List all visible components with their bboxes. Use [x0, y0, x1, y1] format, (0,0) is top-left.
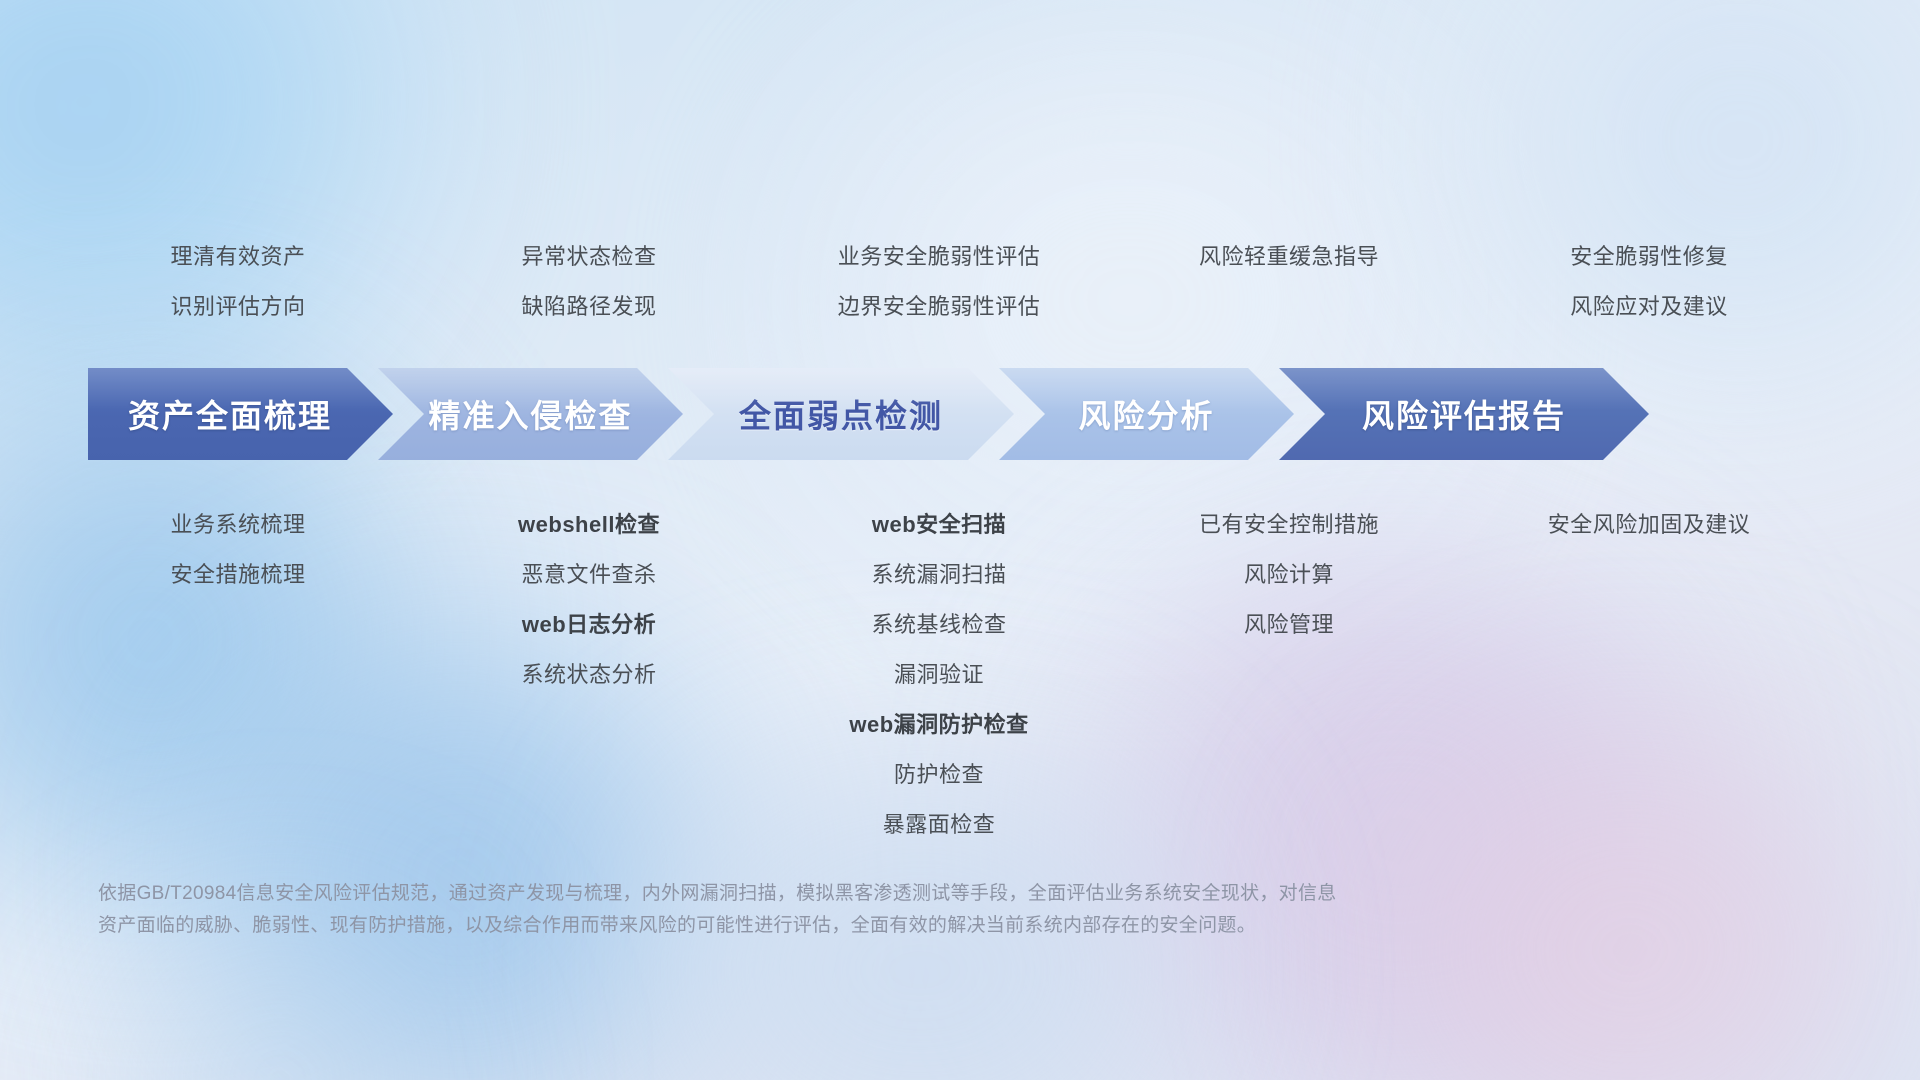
chevron-label: 风险评估报告 — [1279, 391, 1649, 437]
bottom-label: 业务系统梳理 — [170, 500, 305, 550]
bottom-label: 风险管理 — [1244, 600, 1334, 650]
stage-chevron-band: 资产全面梳理 精准入侵检查 全面弱点检测 风险分析 风险评估报告 — [0, 368, 1920, 460]
bottom-label: 安全风险加固及建议 — [1548, 500, 1751, 550]
chevron-stage-3[interactable]: 全面弱点检测 — [668, 368, 1014, 460]
chevron-stage-4[interactable]: 风险分析 — [999, 368, 1294, 460]
chevron-stage-1[interactable]: 资产全面梳理 — [88, 368, 393, 460]
bottom-labels-stage-4: 已有安全控制措施 风险计算 风险管理 — [1124, 500, 1454, 650]
top-labels-stage-5: 安全脆弱性修复 风险应对及建议 — [1454, 232, 1844, 332]
chevron-label: 资产全面梳理 — [88, 391, 393, 437]
footer-line-1: 依据GB/T20984信息安全风险评估规范，通过资产发现与梳理，内外网漏洞扫描，… — [98, 878, 1618, 910]
top-labels-row: 理清有效资产 识别评估方向 异常状态检查 缺陷路径发现 业务安全脆弱性评估 边界… — [0, 232, 1920, 332]
bottom-label: 安全措施梳理 — [170, 550, 305, 600]
top-labels-stage-1: 理清有效资产 识别评估方向 — [52, 232, 424, 332]
bottom-label: 风险计算 — [1244, 550, 1334, 600]
top-label: 识别评估方向 — [170, 282, 305, 332]
chevron-stage-2[interactable]: 精准入侵检查 — [378, 368, 683, 460]
bottom-label: web安全扫描 — [872, 500, 1006, 550]
top-label: 安全脆弱性修复 — [1570, 232, 1728, 282]
top-label: 异常状态检查 — [521, 232, 656, 282]
top-label: 业务安全脆弱性评估 — [838, 232, 1041, 282]
bottom-label: web日志分析 — [522, 600, 656, 650]
footer-line-2: 资产面临的威胁、脆弱性、现有防护措施，以及综合作用而带来风险的可能性进行评估，全… — [98, 910, 1618, 942]
chevron-label: 风险分析 — [999, 391, 1294, 437]
bottom-labels-stage-5: 安全风险加固及建议 — [1454, 500, 1844, 550]
bottom-labels-row: 业务系统梳理 安全措施梳理 webshell检查 恶意文件查杀 web日志分析 … — [0, 500, 1920, 850]
bottom-label: 系统漏洞扫描 — [871, 550, 1006, 600]
bottom-labels-stage-3: web安全扫描 系统漏洞扫描 系统基线检查 漏洞验证 web漏洞防护检查 防护检… — [754, 500, 1124, 850]
bottom-label: 系统基线检查 — [871, 600, 1006, 650]
bottom-label: 系统状态分析 — [521, 650, 656, 700]
bottom-label: 漏洞验证 — [894, 650, 984, 700]
bottom-label: 防护检查 — [894, 750, 984, 800]
process-diagram: 理清有效资产 识别评估方向 异常状态检查 缺陷路径发现 业务安全脆弱性评估 边界… — [0, 0, 1920, 1080]
chevron-label: 精准入侵检查 — [378, 391, 683, 437]
bottom-label: web漏洞防护检查 — [849, 700, 1028, 750]
top-labels-stage-2: 异常状态检查 缺陷路径发现 — [424, 232, 754, 332]
chevron-label: 全面弱点检测 — [668, 391, 1014, 437]
top-labels-stage-4: 风险轻重缓急指导 — [1124, 232, 1454, 332]
bottom-labels-stage-2: webshell检查 恶意文件查杀 web日志分析 系统状态分析 — [424, 500, 754, 700]
footer-description: 依据GB/T20984信息安全风险评估规范，通过资产发现与梳理，内外网漏洞扫描，… — [98, 878, 1618, 942]
chevron-stage-5[interactable]: 风险评估报告 — [1279, 368, 1649, 460]
bottom-label: 已有安全控制措施 — [1199, 500, 1379, 550]
bottom-labels-stage-1: 业务系统梳理 安全措施梳理 — [52, 500, 424, 600]
top-label: 缺陷路径发现 — [521, 282, 656, 332]
top-label: 风险轻重缓急指导 — [1199, 232, 1379, 282]
bottom-label: 暴露面检查 — [883, 800, 996, 850]
bottom-label: webshell检查 — [518, 500, 660, 550]
top-label: 风险应对及建议 — [1570, 282, 1728, 332]
top-labels-stage-3: 业务安全脆弱性评估 边界安全脆弱性评估 — [754, 232, 1124, 332]
bottom-label: 恶意文件查杀 — [521, 550, 656, 600]
top-label: 边界安全脆弱性评估 — [838, 282, 1041, 332]
top-label: 理清有效资产 — [170, 232, 305, 282]
